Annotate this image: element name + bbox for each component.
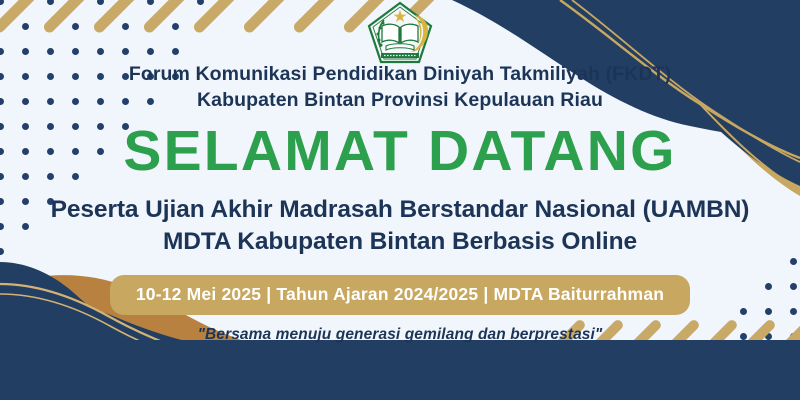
subtitle-line-1: Peserta Ujian Akhir Madrasah Berstandar … (51, 194, 750, 226)
motto-tagline: "Bersama menuju generasi gemilang dan be… (198, 326, 603, 344)
organization-name: Forum Komunikasi Pendidikan Diniyah Takm… (129, 62, 671, 113)
organization-line-2: Kabupaten Bintan Provinsi Kepulauan Riau (129, 88, 671, 114)
banner-content: Forum Komunikasi Pendidikan Diniyah Takm… (0, 0, 800, 400)
event-subtitle: Peserta Ujian Akhir Madrasah Berstandar … (51, 194, 750, 258)
welcome-banner: Forum Komunikasi Pendidikan Diniyah Takm… (0, 0, 800, 400)
headline-selamat-datang: SELAMAT DATANG (123, 123, 676, 180)
organization-line-1: Forum Komunikasi Pendidikan Diniyah Takm… (129, 62, 671, 88)
event-info-pill: 10-12 Mei 2025 | Tahun Ajaran 2024/2025 … (110, 275, 690, 315)
subtitle-line-2: MDTA Kabupaten Bintan Berbasis Online (51, 226, 750, 258)
